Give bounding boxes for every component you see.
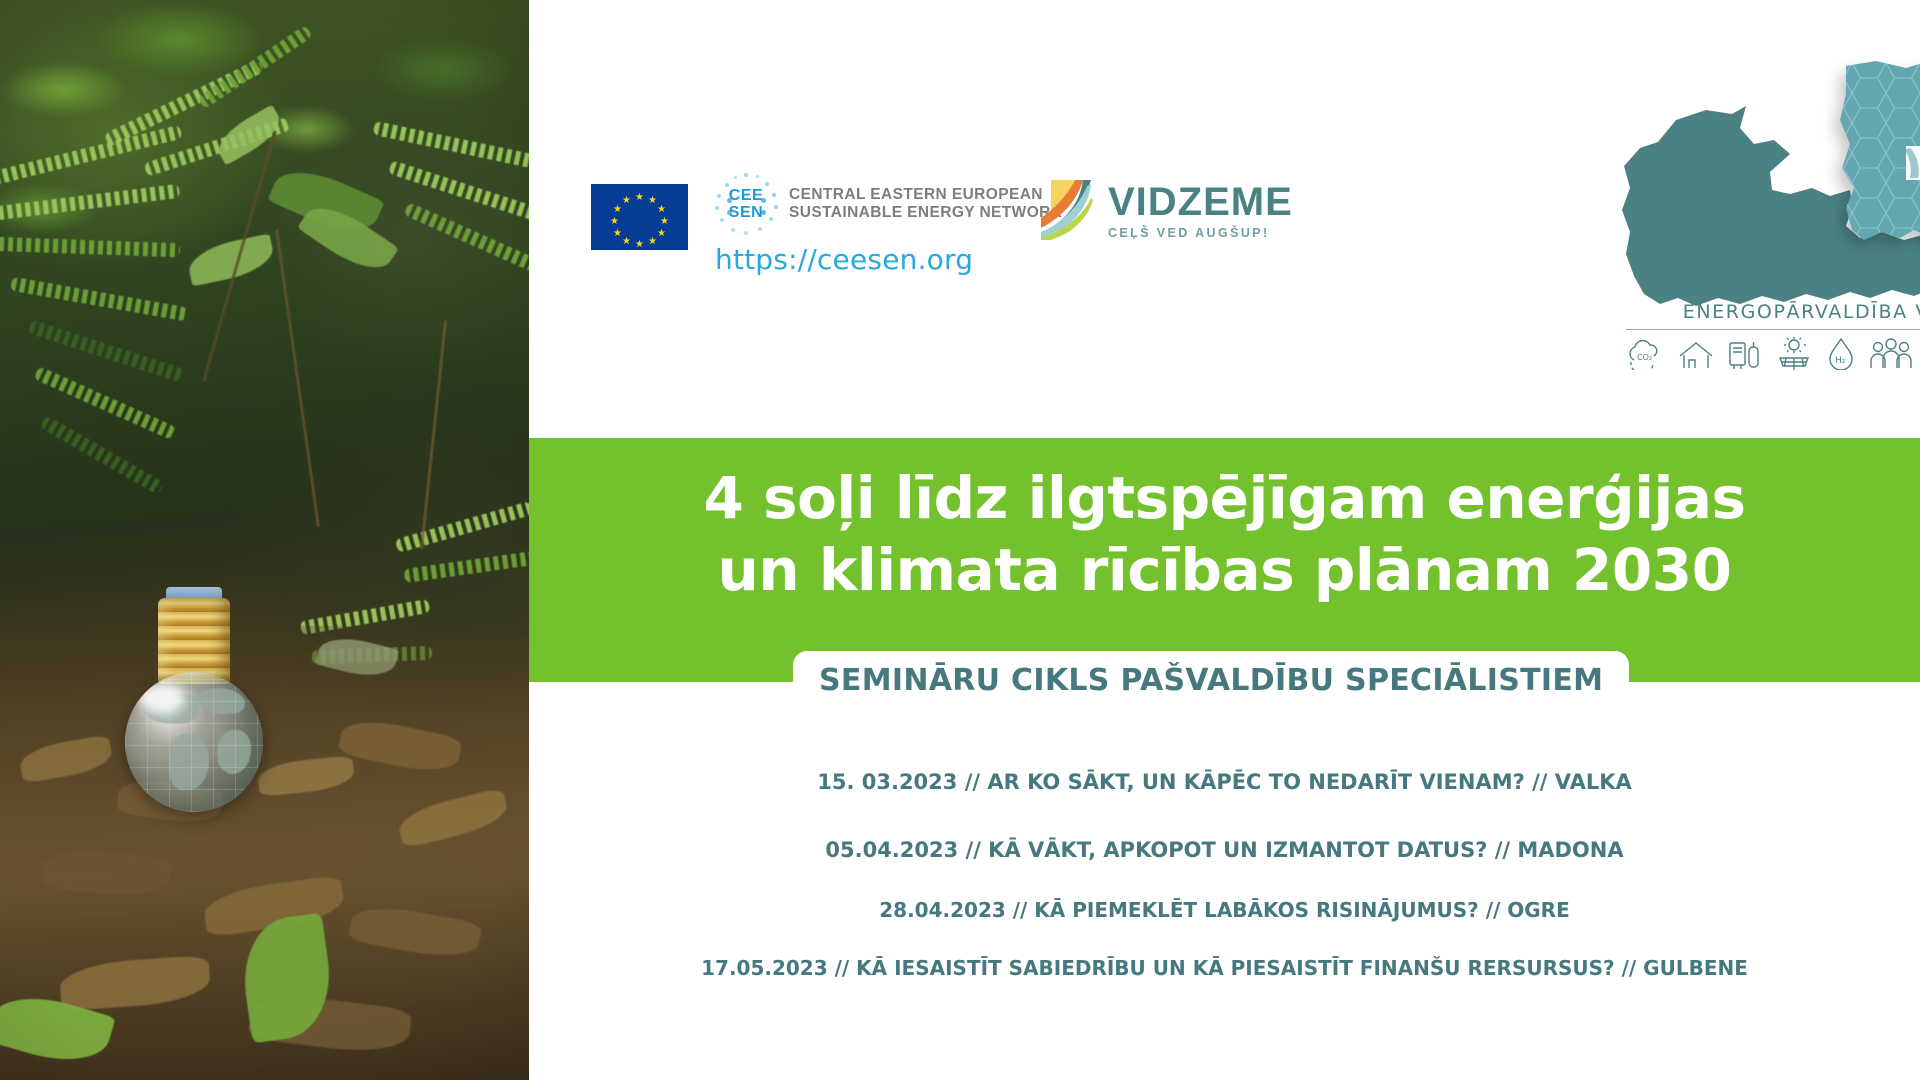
session-row: 05.04.2023 // KĀ VĀKT, APKOPOT UN IZMANT…: [529, 838, 1920, 862]
ceesen-dot-mark-icon: CEE SEN: [714, 172, 778, 236]
ceesen-monogram: CEE SEN: [723, 186, 769, 222]
map-caption: ENERGOPĀRVALDĪBA VIDZEMĒ: [1632, 301, 1920, 323]
title-line-1: 4 soļi līdz ilgtspējīgam enerģijas: [569, 462, 1880, 534]
eu-star-icon: ★: [660, 217, 669, 226]
ceesen-url-link[interactable]: https://ceesen.org: [715, 243, 973, 276]
hydrogen-drop-icon: H₂: [1826, 336, 1856, 370]
map-caption-rule: [1626, 329, 1920, 330]
session-row: 17.05.2023 // KĀ IESAISTĪT SABIEDRĪBU UN…: [529, 956, 1920, 980]
eu-star-icon: ★: [622, 196, 631, 205]
svg-text:CO₂: CO₂: [1637, 353, 1652, 362]
eu-star-icon: ★: [610, 217, 619, 226]
ceesen-words-line1: CENTRAL EASTERN EUROPEAN: [789, 186, 1062, 204]
title-wrap: 4 soļi līdz ilgtspējīgam enerģijas un kl…: [529, 462, 1920, 606]
subtitle-text: SEMINĀRU CIKLS PAŠVALDĪBU SPECIĀLISTIEM: [819, 663, 1603, 698]
eu-flag: ★ ★ ★ ★ ★ ★ ★ ★ ★ ★ ★ ★: [591, 184, 688, 250]
eu-star-icon: ★: [657, 229, 666, 238]
ceesen-words-line2: SUSTAINABLE ENERGY NETWORK: [789, 204, 1062, 222]
house-icon: [1677, 338, 1715, 370]
photo-scene: [0, 0, 529, 1080]
eu-star-icon: ★: [635, 240, 644, 249]
session-row: 28.04.2023 // KĀ PIEMEKLĒT LABĀKOS RISIN…: [529, 898, 1920, 922]
solar-panel-icon: [1774, 336, 1814, 370]
poster-root: ★ ★ ★ ★ ★ ★ ★ ★ ★ ★ ★ ★: [0, 0, 1920, 1080]
session-row: 15. 03.2023 // AR KO SĀKT, UN KĀPĒC TO N…: [529, 770, 1920, 794]
title-banner: 4 soļi līdz ilgtspējīgam enerģijas un kl…: [529, 438, 1920, 682]
title-line-2: un klimata rīcības plānam 2030: [569, 534, 1880, 606]
latvia-vidzeme-map: VIDZEME CEĻŠ VED AUGŠUP! ENERGOPĀRVALDĪB…: [1614, 48, 1920, 368]
map-vidzeme-badge: VIDZEME CEĻŠ VED AUGŠUP!: [1904, 146, 1920, 186]
vidzeme-logo: VIDZEME CEĻŠ VED AUGŠUP!: [1039, 178, 1293, 240]
eu-star-icon: ★: [657, 205, 666, 214]
vidzeme-text-block: VIDZEME CEĻŠ VED AUGŠUP!: [1108, 178, 1293, 240]
eu-star-icon: ★: [648, 196, 657, 205]
vidzeme-tagline: CEĻŠ VED AUGŠUP!: [1108, 226, 1293, 240]
logo-bar: ★ ★ ★ ★ ★ ★ ★ ★ ★ ★ ★ ★: [529, 0, 1920, 438]
eu-star-icon: ★: [613, 205, 622, 214]
eu-star-icon: ★: [613, 229, 622, 238]
ceesen-logo: CEE SEN CENTRAL EASTERN EUROPEAN SUSTAIN…: [714, 172, 1062, 236]
boiler-icon: [1727, 338, 1761, 370]
eu-star-icon: ★: [635, 193, 644, 202]
ceesen-mark-line1: CEE: [729, 187, 763, 204]
eu-star-icon: ★: [648, 237, 657, 246]
people-group-icon: [1869, 338, 1913, 370]
photo-vignette: [0, 0, 529, 1080]
vidzeme-mark-icon: [1039, 178, 1095, 240]
eu-flag-stars: ★ ★ ★ ★ ★ ★ ★ ★ ★ ★ ★ ★: [591, 184, 688, 250]
ceesen-mark-line2: SEN: [729, 204, 763, 221]
forest-lightbulb-photo: [0, 0, 529, 1080]
svg-text:H₂: H₂: [1835, 356, 1846, 366]
eu-star-icon: ★: [622, 237, 631, 246]
ceesen-wordmark: CENTRAL EASTERN EUROPEAN SUSTAINABLE ENE…: [789, 186, 1062, 222]
session-list: 15. 03.2023 // AR KO SĀKT, UN KĀPĒC TO N…: [529, 770, 1920, 980]
energy-icon-row: CO₂: [1624, 334, 1920, 370]
co2-cloud-icon: CO₂: [1624, 338, 1664, 370]
vidzeme-name: VIDZEME: [1108, 182, 1293, 222]
vidzeme-mark-svg: [1039, 178, 1095, 240]
subtitle-plate: SEMINĀRU CIKLS PAŠVALDĪBU SPECIĀLISTIEM: [793, 651, 1629, 709]
